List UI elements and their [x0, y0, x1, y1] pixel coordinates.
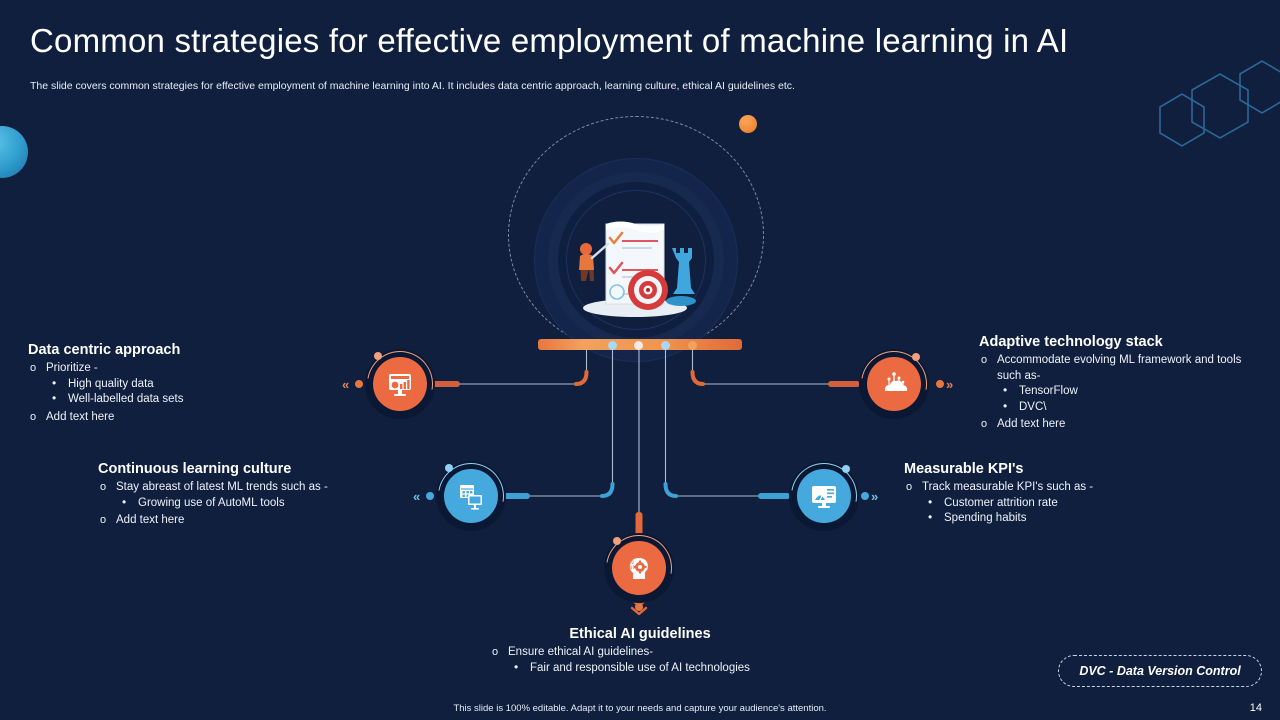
- bullet-l2: •Growing use of AutoML tools: [98, 496, 398, 512]
- bullet-marker: •: [52, 376, 56, 392]
- bullet-text: Prioritize -: [46, 362, 98, 374]
- block-title: Data centric approach: [28, 342, 328, 358]
- node-side-dot-1: [355, 380, 363, 388]
- bullet-marker: •: [1003, 399, 1007, 415]
- bar-dot-4: [661, 341, 670, 350]
- node-accent-dot: [374, 352, 382, 360]
- slide-canvas: Common strategies for effective employme…: [0, 0, 1280, 720]
- bullet-marker: o: [981, 353, 987, 369]
- bullet-l1: oAdd text here: [98, 513, 398, 529]
- bullet-text: Growing use of AutoML tools: [138, 497, 285, 509]
- block-title: Continuous learning culture: [98, 461, 398, 477]
- node-measurable-kpis[interactable]: [789, 461, 859, 531]
- bullet-l2: •Fair and responsible use of AI technolo…: [430, 661, 850, 677]
- block-continuous-learning-culture: Continuous learning culture oStay abreas…: [98, 461, 398, 529]
- bullet-marker: o: [100, 480, 106, 496]
- bullet-l1: oAdd text here: [28, 410, 328, 426]
- svg-text:01: 01: [630, 565, 635, 570]
- bullet-l2: •Well-labelled data sets: [28, 392, 328, 408]
- bullet-l1: oStay abreast of latest ML trends such a…: [98, 480, 398, 496]
- bullet-marker: o: [906, 480, 912, 496]
- monitor-chart-icon: [373, 357, 427, 411]
- bullet-text: TensorFlow: [1019, 385, 1078, 397]
- bar-dot-3: [634, 341, 643, 350]
- bullet-l1: oTrack measurable KPI's such as -: [904, 480, 1204, 496]
- decorative-hexagons: [1130, 52, 1280, 172]
- block-data-centric-approach: Data centric approach oPrioritize - •Hig…: [28, 342, 328, 425]
- block-ethical-ai-guidelines: Ethical AI guidelines oEnsure ethical AI…: [430, 626, 850, 676]
- node-accent-dot: [445, 464, 453, 472]
- node-continuous-learning-culture[interactable]: [436, 461, 506, 531]
- bullet-marker: •: [1003, 383, 1007, 399]
- block-title: Ethical AI guidelines: [430, 626, 850, 642]
- bullet-l1: oAdd text here: [979, 417, 1261, 433]
- bullet-marker: •: [514, 660, 518, 676]
- bullet-l2: •Customer attrition rate: [904, 496, 1204, 512]
- bullet-text: Add text here: [116, 514, 184, 526]
- block-title: Measurable KPI's: [904, 461, 1204, 477]
- bullet-l2: •TensorFlow: [979, 384, 1261, 400]
- bullet-text: Well-labelled data sets: [68, 393, 184, 405]
- bullet-text: Spending habits: [944, 512, 1026, 524]
- strategy-checklist-illustration: [560, 186, 710, 336]
- bullet-text: High quality data: [68, 378, 154, 390]
- bullet-text: DVC\: [1019, 401, 1046, 413]
- bullet-text: Customer attrition rate: [944, 497, 1058, 509]
- bullet-text: Ensure ethical AI guidelines-: [508, 646, 653, 658]
- page-number: 14: [1250, 702, 1262, 714]
- bullet-marker: •: [928, 495, 932, 511]
- decorative-sphere: [0, 126, 28, 178]
- bullet-l1: oPrioritize -: [28, 361, 328, 377]
- bullet-text: Track measurable KPI's such as -: [922, 481, 1093, 493]
- bullet-marker: o: [30, 410, 36, 426]
- bullet-marker: •: [52, 391, 56, 407]
- bullet-l2: •Spending habits: [904, 511, 1204, 527]
- head-gear-icon: 10 01: [612, 541, 666, 595]
- bullet-marker: o: [981, 417, 987, 433]
- presentation-board-icon: [444, 469, 498, 523]
- node-side-dot-3: [426, 492, 434, 500]
- bullet-text: Stay abreast of latest ML trends such as…: [116, 481, 328, 493]
- central-hub: [508, 116, 774, 356]
- bullet-marker: •: [122, 495, 126, 511]
- bullet-l2: •DVC\: [979, 400, 1261, 416]
- tech-stack-icon: [867, 357, 921, 411]
- bullet-text: Add text here: [46, 411, 114, 423]
- chevron-left-icon-2: «: [413, 490, 420, 503]
- node-side-dot-4: [861, 492, 869, 500]
- bullet-l2: •High quality data: [28, 377, 328, 393]
- block-measurable-kpis: Measurable KPI's oTrack measurable KPI's…: [904, 461, 1204, 527]
- bullet-marker: o: [30, 361, 36, 377]
- bar-dot-1: [582, 341, 591, 350]
- bullet-l1: oEnsure ethical AI guidelines-: [430, 645, 850, 661]
- node-side-dot-2: [936, 380, 944, 388]
- chevron-left-icon-1: «: [342, 378, 349, 391]
- bullet-text: Add text here: [997, 418, 1065, 430]
- bullet-text: Accommodate evolving ML framework and to…: [997, 354, 1241, 382]
- block-title: Adaptive technology stack: [979, 334, 1261, 350]
- bar-dot-2: [608, 341, 617, 350]
- bullet-marker: o: [492, 645, 498, 661]
- node-accent-dot: [613, 537, 621, 545]
- bullet-marker: •: [928, 510, 932, 526]
- dvc-badge: DVC - Data Version Control: [1058, 655, 1262, 687]
- bar-dot-5: [688, 341, 697, 350]
- node-accent-dot: [912, 353, 920, 361]
- chevron-right-icon-2: »: [871, 490, 878, 503]
- block-adaptive-technology-stack: Adaptive technology stack oAccommodate e…: [979, 334, 1261, 433]
- footer-note: This slide is 100% editable. Adapt it to…: [0, 703, 1280, 714]
- node-adaptive-technology-stack[interactable]: [859, 349, 929, 419]
- bullet-marker: o: [100, 513, 106, 529]
- page-title: Common strategies for effective employme…: [30, 22, 1068, 60]
- monitor-dashboard-icon: [797, 469, 851, 523]
- node-accent-dot: [842, 465, 850, 473]
- page-subtitle: The slide covers common strategies for e…: [30, 80, 795, 92]
- bullet-text: Fair and responsible use of AI technolog…: [530, 662, 750, 674]
- node-bottom-dot: [635, 603, 643, 611]
- chevron-right-icon-1: »: [946, 378, 953, 391]
- node-ethical-ai-guidelines[interactable]: 10 01: [604, 533, 674, 603]
- bullet-l1: oAccommodate evolving ML framework and t…: [979, 353, 1261, 384]
- node-data-centric-approach[interactable]: [365, 349, 435, 419]
